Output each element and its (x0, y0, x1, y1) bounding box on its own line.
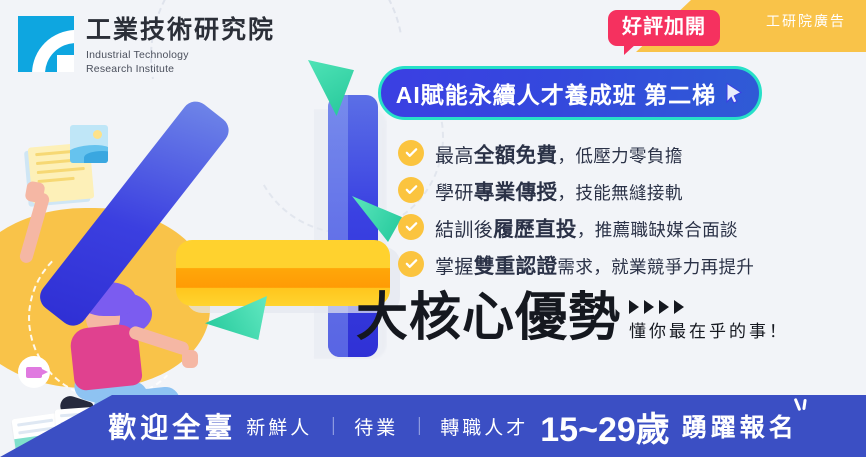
footer-audience-2: 待業 (354, 413, 398, 440)
image-card-icon (70, 125, 108, 163)
sparkle-icon (794, 398, 812, 416)
footer-separator: ｜ (410, 413, 428, 439)
headline-tagline: 懂你最在乎的事！ (629, 317, 789, 342)
brand-name-en-line2: Research Institute (86, 62, 275, 76)
benefit-text: 掌握雙重認證需求，就業競爭力再提升 (435, 249, 754, 279)
arrow-markers-icon (629, 300, 789, 314)
itri-logo: 工業技術研究院 Industrial Technology Research I… (18, 16, 275, 76)
footer-age-range: 15~29歲 (540, 402, 670, 451)
course-title-text: AI賦能永續人才養成班 第二梯 (396, 76, 716, 110)
benefit-text: 結訓後履歷直投，推薦職缺媒合面談 (435, 212, 738, 242)
itri-arc-logo-icon (18, 16, 74, 72)
brand-name-en-line1: Industrial Technology (86, 48, 275, 62)
cursor-arrow-icon (724, 81, 744, 105)
check-circle-icon (398, 214, 424, 240)
footer-audience-3: 轉職人才 (440, 413, 528, 440)
check-circle-icon (398, 251, 424, 277)
video-camera-icon (18, 356, 50, 388)
check-circle-icon (398, 140, 424, 166)
benefit-text: 學研專業傳授，技能無縫接軌 (435, 175, 683, 205)
course-title-pill[interactable]: AI賦能永續人才養成班 第二梯 (378, 66, 762, 120)
list-item: 掌握雙重認證需求，就業競爭力再提升 (398, 245, 754, 282)
illustration-arm (18, 192, 50, 265)
list-item: 結訓後履歷直投，推薦職缺媒合面談 (398, 208, 754, 245)
brand-name-en: Industrial Technology Research Institute (86, 48, 275, 76)
headline-side-block: 懂你最在乎的事！ (625, 300, 789, 344)
footer-audience-1: 新鮮人 (246, 413, 312, 440)
benefits-list: 最高全額免費，低壓力零負擔 學研專業傳授，技能無縫接軌 結訓後履歷直投，推薦職缺… (398, 134, 754, 282)
footer-content: 歡迎全臺 新鮮人 ｜ 待業 ｜ 轉職人才 15~29歲 踴躍報名 (0, 395, 866, 457)
list-item: 學研專業傳授，技能無縫接軌 (398, 171, 754, 208)
footer-welcome-text: 歡迎全臺 (108, 406, 236, 446)
check-circle-icon (398, 177, 424, 203)
promo-badge: 好評加開 (608, 10, 720, 46)
benefit-text: 最高全額免費，低壓力零負擔 (435, 138, 683, 168)
headline-block: 大核心優勢 懂你最在乎的事！ (356, 292, 789, 344)
footer-separator: ｜ (324, 413, 342, 439)
headline-text: 大核心優勢 (356, 292, 621, 344)
footer-cta-label: 踴躍報名 (682, 414, 798, 442)
advertisement-banner: 工研院廣告 好評加開 工業技術研究院 Industrial Technology… (0, 0, 866, 457)
ad-disclosure-label: 工研院廣告 (766, 11, 846, 31)
brand-name-cn: 工業技術研究院 (86, 18, 275, 43)
list-item: 最高全額免費，低壓力零負擔 (398, 134, 754, 171)
footer-cta-text[interactable]: 踴躍報名 (682, 408, 798, 444)
brand-name-block: 工業技術研究院 Industrial Technology Research I… (86, 16, 275, 76)
